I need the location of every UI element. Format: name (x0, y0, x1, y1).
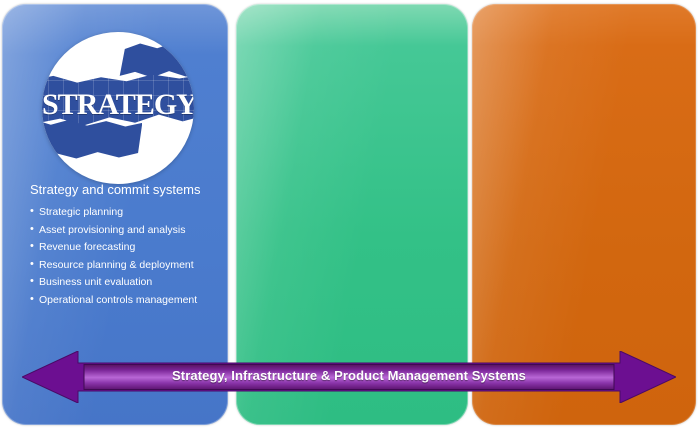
list-item: Asset provisioning and analysis (30, 223, 226, 238)
diagram-canvas: STRATEGY Strategy and commit systems Str… (0, 0, 698, 434)
strategy-word: STRATEGY (42, 88, 194, 122)
list-item: Revenue forecasting (30, 240, 226, 255)
list-item: Strategic planning (30, 205, 226, 220)
list-item: Resource planning & deployment (30, 258, 226, 273)
puzzle-piece-band-bottom (42, 120, 142, 166)
list-item: Business unit evaluation (30, 275, 226, 290)
panel-title-strategy: Strategy and commit systems (30, 182, 220, 197)
bullet-list-strategy: Strategic planning Asset provisioning an… (30, 205, 226, 310)
strategy-puzzle-globe-image: STRATEGY (42, 32, 194, 184)
summary-arrow-banner[interactable]: Strategy, Infrastructure & Product Manag… (22, 351, 676, 403)
banner-label: Strategy, Infrastructure & Product Manag… (22, 368, 676, 383)
list-item: Operational controls management (30, 293, 226, 308)
puzzle-piece-band-top (118, 41, 194, 81)
